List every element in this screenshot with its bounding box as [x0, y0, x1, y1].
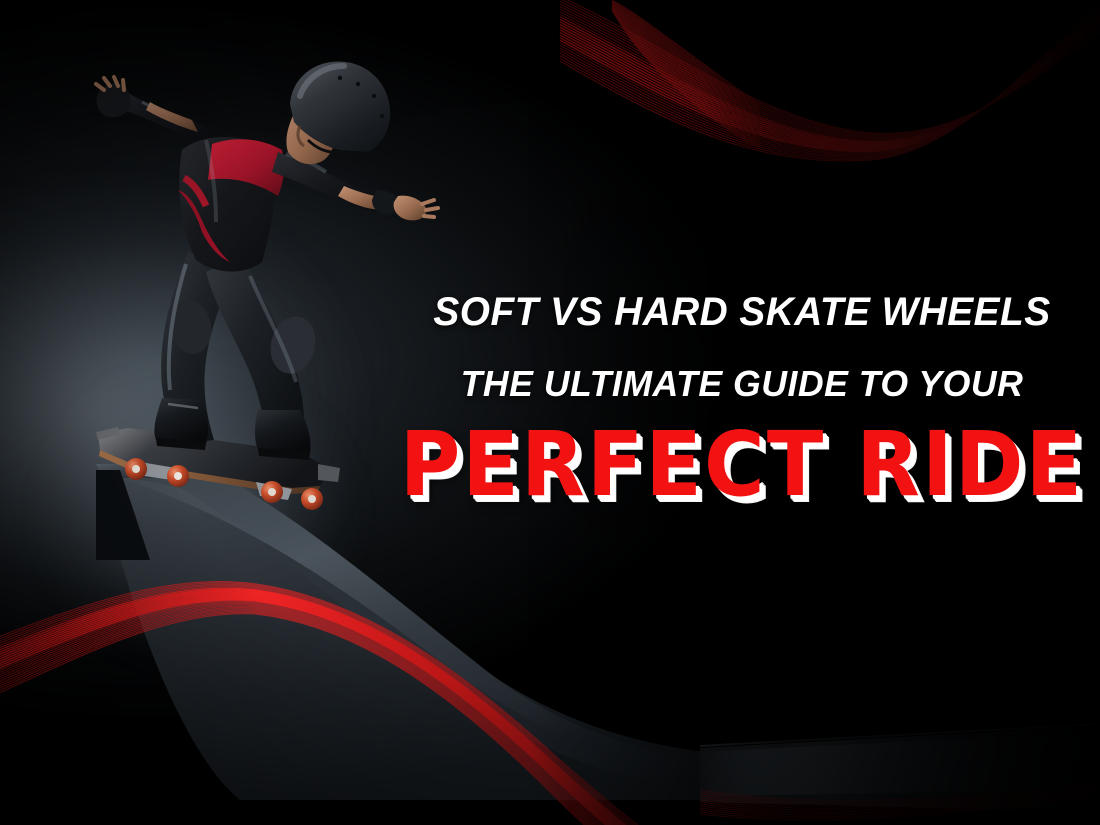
- headline-block: SOFT VS HARD SKATE WHEELS THE ULTIMATE G…: [412, 292, 1072, 504]
- skateboard-bearing-2: [174, 472, 182, 480]
- headline-line-2: THE ULTIMATE GUIDE TO YOUR: [415, 366, 1068, 402]
- skateboard-bearing-1: [132, 465, 140, 473]
- skater-shoe-front: [255, 410, 311, 454]
- skater-helmet-vent-1: [338, 76, 342, 80]
- skater-helmet-vent-4: [380, 114, 384, 118]
- skateboard-bearing-4: [308, 495, 316, 503]
- skater-helmet-vent-3: [372, 94, 376, 98]
- headline-line-3: PERFECT RIDE: [392, 414, 1092, 510]
- skater-hand-front: [394, 196, 427, 221]
- skater-helmet-vent-2: [356, 82, 360, 86]
- skater-torso: [178, 137, 284, 272]
- promo-banner: SOFT VS HARD SKATE WHEELS THE ULTIMATE G…: [0, 0, 1100, 825]
- skater-head: [286, 61, 390, 164]
- skateboard-bearing-3: [268, 488, 276, 496]
- headline-line-1: SOFT VS HARD SKATE WHEELS: [422, 292, 1062, 332]
- skateboard-tail: [318, 464, 340, 482]
